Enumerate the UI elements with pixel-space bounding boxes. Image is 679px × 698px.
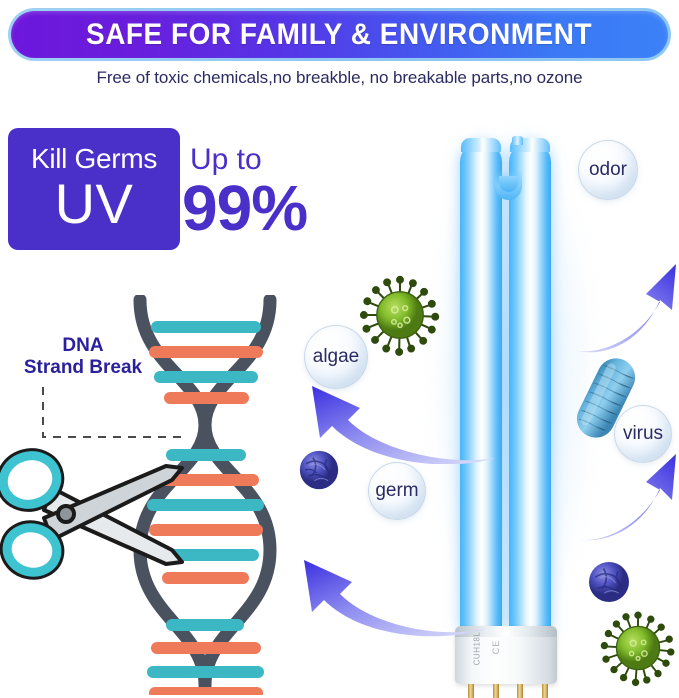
bubble-virus: virus xyxy=(614,405,672,463)
arrow-up-right-virus xyxy=(572,258,679,358)
scissors-icon xyxy=(0,440,190,590)
lamp-pin xyxy=(542,684,548,698)
bubble-virus-label: virus xyxy=(623,423,663,445)
blue-germ-cluster-icon xyxy=(585,558,633,606)
green-spiky-virus-icon xyxy=(598,608,678,688)
green-spiky-virus-icon xyxy=(357,272,443,358)
dna-label-line1: DNA xyxy=(62,335,103,356)
bubble-odor-label: odor xyxy=(589,159,627,181)
arrow-up-left-germ xyxy=(292,548,492,640)
bubble-germ: germ xyxy=(368,462,426,520)
subtitle-text: Free of toxic chemicals,no breakble, no … xyxy=(0,68,679,88)
claim-value: 99% xyxy=(182,176,307,240)
lamp-base-certification-marks: CE xyxy=(491,630,501,664)
promo-infographic: SAFE FOR FAMILY & ENVIRONMENT Free of to… xyxy=(0,0,679,698)
kill-germs-badge: Kill Germs UV xyxy=(8,128,180,250)
arrow-up-right-lower xyxy=(570,450,679,550)
bubble-algae-label: algae xyxy=(313,346,360,368)
bubble-odor: odor xyxy=(578,140,638,200)
lamp-pin xyxy=(517,684,523,698)
lamp-tip-nub xyxy=(512,136,523,145)
bubble-germ-label: germ xyxy=(375,480,418,502)
bubble-algae: algae xyxy=(304,325,368,389)
banner-title: SAFE FOR FAMILY & ENVIRONMENT xyxy=(86,18,592,52)
badge-line-kill-germs: Kill Germs xyxy=(31,145,157,173)
header-banner: SAFE FOR FAMILY & ENVIRONMENT xyxy=(8,8,671,61)
lamp-pin xyxy=(468,684,474,698)
claim-prefix: Up to xyxy=(190,145,262,175)
lamp-pin xyxy=(493,684,499,698)
header-banner-inner: SAFE FOR FAMILY & ENVIRONMENT xyxy=(11,11,668,58)
badge-line-uv: UV xyxy=(55,175,134,234)
lamp-tube-cap-left xyxy=(461,138,501,152)
lamp-tube-right xyxy=(509,142,551,630)
blue-germ-cluster-icon xyxy=(296,447,342,493)
